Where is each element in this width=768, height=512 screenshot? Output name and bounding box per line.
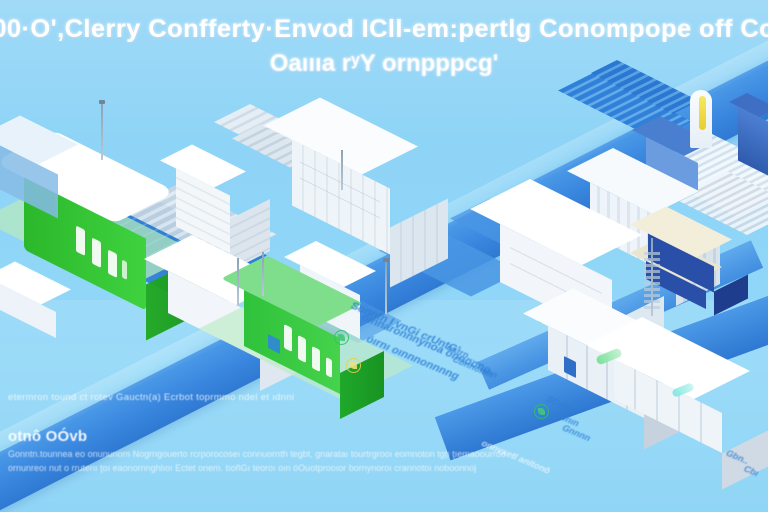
panel-line — [300, 178, 380, 219]
page-title-line1: 00·O',Clerry Confferty·Envod ICll-em:per… — [0, 16, 768, 44]
pylon-mast — [651, 238, 653, 316]
chimney-cap — [99, 100, 105, 104]
caption-block: etermron tound ct rotev Gauctn(a) Ecrbot… — [8, 392, 528, 476]
light-pole — [341, 150, 343, 190]
factory-window — [122, 260, 127, 281]
leaf-icon — [334, 330, 349, 345]
yellow-accent — [699, 96, 706, 130]
green-lower-door — [268, 334, 280, 354]
leaf-icon — [534, 404, 549, 419]
leaf-icon — [346, 358, 361, 373]
illustration-canvas: Sonntn I vnGi crUntGʹ óınnaronnnynoa onn… — [0, 0, 768, 512]
light-pole — [385, 262, 387, 314]
caption-body: Gonntn.tounnea eo onununom Nogrngouerto … — [8, 448, 528, 476]
caption-lead: etermron tound ct rotev Gauctn(a) Ecrbot… — [8, 392, 528, 404]
factory-window — [92, 238, 101, 269]
title-block: 00·O',Clerry Confferty·Envod ICll-em:per… — [0, 16, 768, 77]
green-lower-window — [312, 346, 320, 372]
light-pole-cap — [383, 258, 389, 262]
factory-window — [108, 250, 117, 279]
fg-warehouse-b-door — [564, 356, 576, 378]
green-lower-window — [326, 357, 332, 378]
factory-window — [76, 226, 85, 257]
caption-heading: otnô OÓvb — [8, 428, 528, 445]
chimney-pole — [101, 104, 103, 160]
light-pole — [237, 258, 239, 306]
green-lower-window — [298, 335, 306, 363]
light-pole — [262, 252, 264, 296]
green-lower-window — [284, 324, 292, 352]
page-title-line2: Oaıııa rʸY ornpppcgʹ — [0, 51, 768, 77]
